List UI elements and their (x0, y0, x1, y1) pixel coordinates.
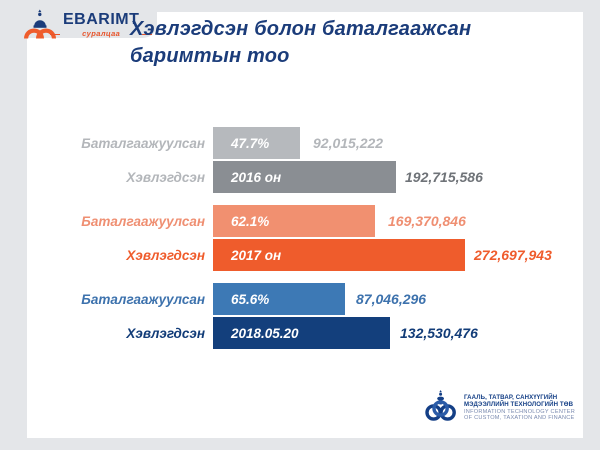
bar-label-verified: Баталгаажуулсан (0, 136, 205, 151)
bar-row-issued: Хэвлэгдсэн 2017 он 272,697,943 (0, 239, 600, 271)
bar-label-verified: Баталгаажуулсан (0, 214, 205, 229)
bar-verified: 62.1% (213, 205, 375, 237)
footer-org-name-mn-line2: МЭДЭЭЛЛИЙН ТЕХНОЛОГИЙН ТӨВ (464, 401, 575, 408)
bar-total-verified: 87,046,296 (356, 291, 426, 307)
bar-value-percent: 47.7% (213, 136, 269, 151)
bar-row-issued: Хэвлэгдсэн 2016 он 192,715,586 (0, 161, 600, 193)
bar-row-verified: Баталгаажуулсан 62.1% 169,370,846 (0, 205, 600, 237)
ebarimt-arch-icon (22, 8, 58, 42)
bar-label-issued: Хэвлэгдсэн (0, 326, 205, 341)
bar-issued: 2018.05.20 (213, 317, 390, 349)
chart-group-2017: Баталгаажуулсан 62.1% 169,370,846 Хэвлэг… (0, 203, 600, 281)
page-title: Хэвлэгдсэн болон баталгаажсан баримтын т… (130, 16, 550, 70)
bar-total-issued: 132,530,476 (400, 325, 478, 341)
bar-row-verified: Баталгаажуулсан 47.7% 92,015,222 (0, 127, 600, 159)
brand-name: EBARIMT (63, 12, 139, 28)
chart-group-2016: Баталгаажуулсан 47.7% 92,015,222 Хэвлэгд… (0, 125, 600, 203)
itc-footer-logo: ГААЛЬ, ТАТВАР, САНХҮҮГИЙН МЭДЭЭЛЛИЙН ТЕХ… (424, 386, 574, 430)
bar-verified: 47.7% (213, 127, 300, 159)
bar-issued: 2017 он (213, 239, 465, 271)
bar-label-issued: Хэвлэгдсэн (0, 248, 205, 263)
chart-group-2018: Баталгаажуулсан 65.6% 87,046,296 Хэвлэгд… (0, 281, 600, 359)
bar-total-verified: 92,015,222 (313, 135, 383, 151)
footer-org-name-en-line1: INFORMATION TECHNOLOGY CENTER (464, 409, 575, 416)
bar-issued: 2016 он (213, 161, 396, 193)
bar-value-year: 2017 он (213, 248, 281, 263)
bar-value-percent: 65.6% (213, 292, 269, 307)
bar-total-issued: 272,697,943 (474, 247, 552, 263)
bar-total-verified: 169,370,846 (388, 213, 466, 229)
itc-interlocking-circles-icon (424, 388, 458, 428)
bar-value-percent: 62.1% (213, 214, 269, 229)
bar-value-year: 2016 он (213, 170, 281, 185)
bar-label-verified: Баталгаажуулсан (0, 292, 205, 307)
bar-chart: Баталгаажуулсан 47.7% 92,015,222 Хэвлэгд… (0, 125, 600, 375)
bar-label-issued: Хэвлэгдсэн (0, 170, 205, 185)
brand-tagline: суралцаа (63, 30, 139, 38)
bar-verified: 65.6% (213, 283, 345, 315)
bar-value-date: 2018.05.20 (213, 326, 299, 341)
bar-row-issued: Хэвлэгдсэн 2018.05.20 132,530,476 (0, 317, 600, 349)
bar-total-issued: 192,715,586 (405, 169, 483, 185)
bar-row-verified: Баталгаажуулсан 65.6% 87,046,296 (0, 283, 600, 315)
ebarimt-logo: EBARIMT суралцаа (22, 6, 147, 44)
footer-org-name-en-line2: OF CUSTOM, TAXATION AND FINANCE (464, 415, 575, 422)
